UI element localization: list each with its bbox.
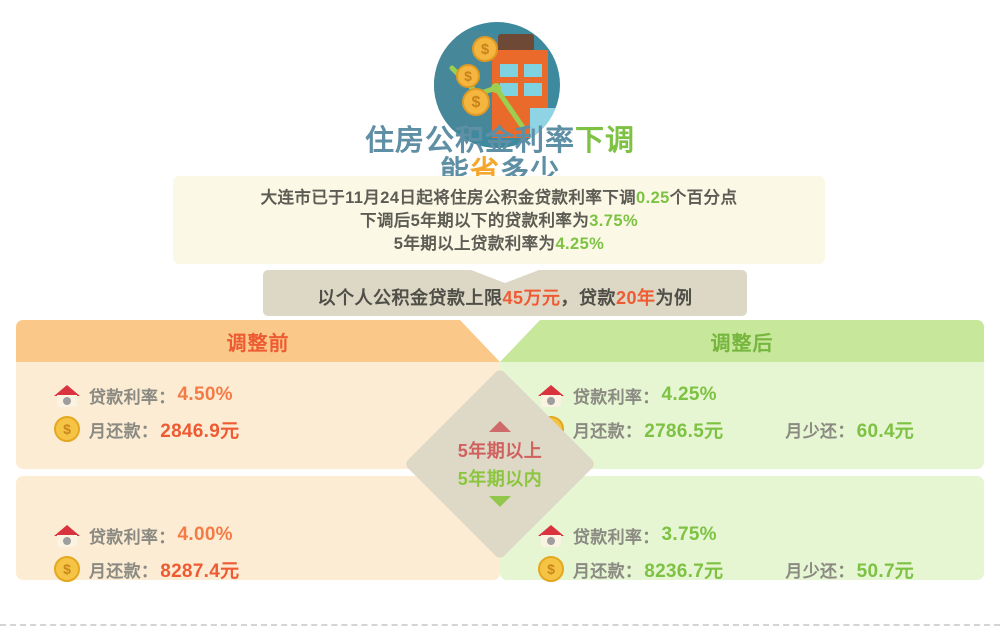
footer-divider (0, 624, 1000, 626)
panel-before-header-label: 调整前 (227, 327, 290, 356)
rate-label: 贷款利率： (573, 523, 660, 548)
desc-2-text: 下调后5年期以下的贷款利率为 (360, 212, 589, 230)
panel-after-header-label: 调整后 (711, 327, 774, 356)
rate-label: 贷款利率： (573, 383, 660, 408)
payment-value: 2846.9元 (160, 416, 239, 443)
header-notch (500, 320, 540, 362)
coin-icon: $ (472, 36, 498, 62)
rate-label: 贷款利率： (89, 383, 176, 408)
triangle-up-icon (489, 421, 511, 432)
payment-value: 8236.7元 (644, 556, 723, 583)
savings-group: 月少还： 50.7元 (785, 556, 914, 583)
description-line-2: 下调后5年期以下的贷款利率为3.75% (173, 210, 825, 233)
savings-value: 50.7元 (857, 556, 914, 583)
description-line-1: 大连市已于11月24日起将住房公积金贷款利率下调0.25个百分点 (173, 187, 825, 210)
payment-row: $ 月还款： 2786.5元 月少还： 60.4元 (538, 414, 984, 444)
payment-label: 月还款： (89, 417, 158, 442)
title-main-text: 住房公积金利率 (365, 125, 575, 157)
coin-icon: $ (462, 88, 490, 116)
example-highlight-amount: 45万元 (502, 288, 560, 308)
house-icon (54, 382, 80, 408)
before-row-within-5-years: 贷款利率： 4.00% $ 月还款： 8287.4元 (16, 476, 500, 580)
house-icon (54, 522, 80, 548)
desc-1-text-b: 个百分点 (670, 189, 738, 207)
after-row-within-5-years: 贷款利率： 3.75% $ 月还款： 8236.7元 月少还： 50.7元 (500, 476, 984, 580)
description-line-3: 5年期以上贷款利率为4.25% (173, 233, 825, 256)
coin-icon: $ (54, 556, 80, 582)
example-text-b: ，贷款 (561, 288, 617, 308)
example-text: 以个人公积金贷款上限45万元，贷款20年为例 (317, 277, 692, 310)
rate-value: 3.75% (662, 524, 717, 546)
desc-1-highlight: 0.25 (636, 189, 670, 207)
desc-3-highlight: 4.25% (555, 235, 604, 253)
term-within-5-years-label: 5年期以内 (458, 465, 543, 491)
rate-value: 4.25% (662, 384, 717, 406)
savings-label: 月少还： (785, 417, 854, 442)
triangle-down-icon (489, 496, 511, 507)
panel-after-header: 调整后 (500, 320, 984, 362)
payment-label: 月还款： (573, 417, 642, 442)
payment-label: 月还款： (573, 557, 642, 582)
rate-row: 贷款利率： 3.75% (538, 520, 984, 550)
panel-before-header: 调整前 (16, 320, 500, 362)
coin-icon: $ (54, 416, 80, 442)
desc-1-text-a: 大连市已于11月24日起将住房公积金贷款利率下调 (261, 189, 636, 207)
payment-value: 2786.5元 (644, 416, 723, 443)
payment-label: 月还款： (89, 557, 158, 582)
infographic-page: $ $ $ 住房公积金利率下调 能省多少 大连市已于11月24日起将住房公积金贷… (0, 0, 1000, 631)
title-highlight-text: 下调 (575, 125, 635, 157)
rate-value: 4.50% (178, 384, 233, 406)
rate-label: 贷款利率： (89, 523, 176, 548)
example-text-c: 为例 (656, 288, 693, 308)
example-banner: 以个人公积金贷款上限45万元，贷款20年为例 (263, 270, 747, 316)
desc-2-highlight: 3.75% (589, 212, 638, 230)
savings-value: 60.4元 (857, 416, 914, 443)
title-line-1: 住房公积金利率下调 (0, 126, 1000, 157)
rate-value: 4.00% (178, 524, 233, 546)
payment-row: $ 月还款： 8287.4元 (54, 554, 500, 584)
desc-3-text: 5年期以上贷款利率为 (394, 235, 556, 253)
example-text-a: 以个人公积金贷款上限 (317, 288, 502, 308)
savings-label: 月少还： (785, 557, 854, 582)
payment-value: 8287.4元 (160, 556, 239, 583)
coin-icon: $ (538, 556, 564, 582)
example-highlight-term: 20年 (616, 288, 656, 308)
description-box: 大连市已于11月24日起将住房公积金贷款利率下调0.25个百分点 下调后5年期以… (173, 176, 825, 264)
term-divider-content: 5年期以上 5年期以内 (432, 396, 568, 532)
header-notch (460, 320, 500, 362)
payment-row: $ 月还款： 8236.7元 月少还： 50.7元 (538, 554, 984, 584)
rate-row: 贷款利率： 4.25% (538, 380, 984, 410)
term-over-5-years-label: 5年期以上 (458, 437, 543, 463)
savings-group: 月少还： 60.4元 (785, 416, 914, 443)
coin-icon: $ (456, 64, 480, 88)
